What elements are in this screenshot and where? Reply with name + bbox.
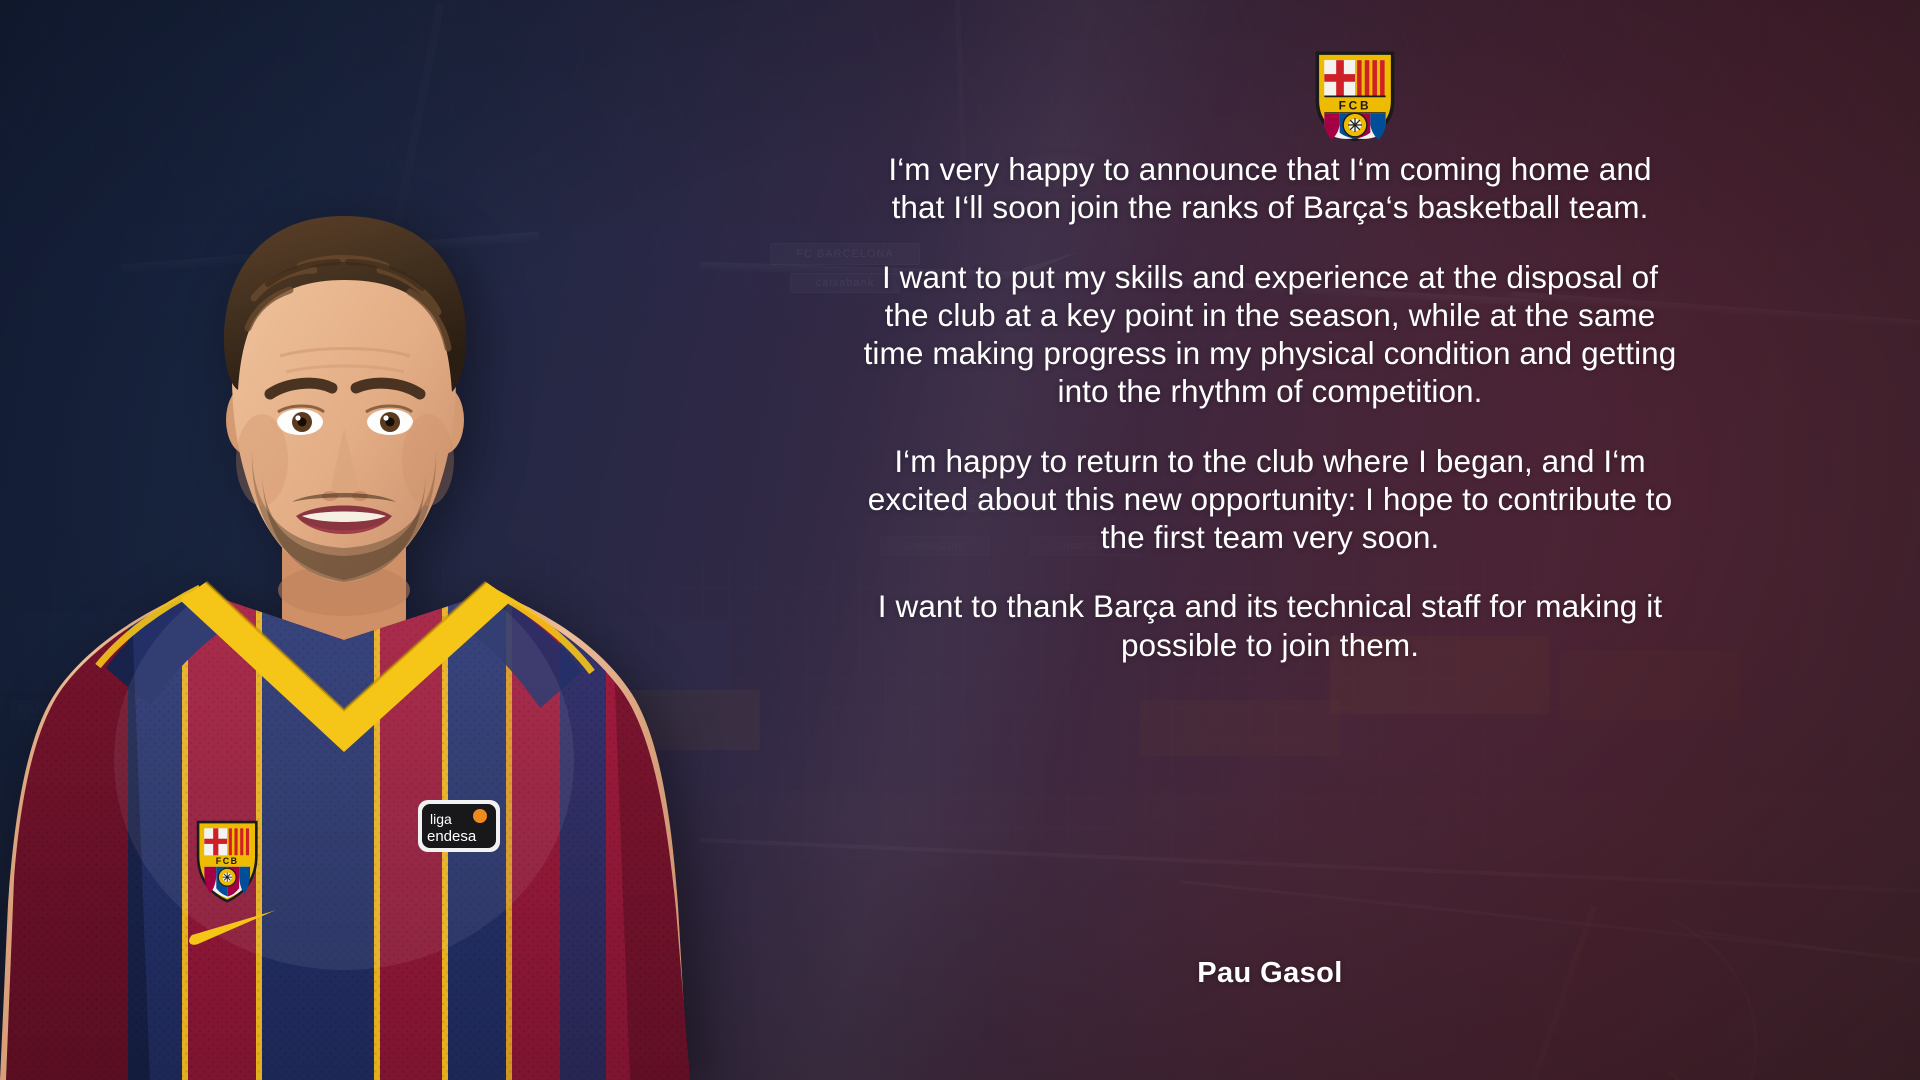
graphic-canvas: FC BARCELONA caixabank Coca-Cola Coca-Co… bbox=[0, 0, 1920, 1080]
svg-text:FCB: FCB bbox=[216, 856, 239, 866]
quote-paragraph: I want to put my skills and experience a… bbox=[860, 258, 1680, 411]
crest-letters: FCB bbox=[1339, 99, 1372, 113]
patch-line2: endesa bbox=[427, 828, 477, 845]
quote-paragraph: I‘m happy to return to the club where I … bbox=[860, 442, 1680, 557]
jersey-liga-endesa-patch: liga endesa bbox=[418, 800, 500, 852]
patch-line1: liga bbox=[430, 811, 452, 827]
quote-paragraph: I‘m very happy to announce that I‘m comi… bbox=[860, 150, 1680, 227]
quote-block: I‘m very happy to announce that I‘m comi… bbox=[860, 150, 1680, 664]
quote-paragraph: I want to thank Barça and its technical … bbox=[860, 587, 1680, 664]
fcb-crest: FCB bbox=[1313, 49, 1397, 141]
player-head bbox=[224, 216, 466, 582]
player-photo-pau-gasol: FCB liga endesa bbox=[0, 120, 740, 1080]
quote-signature: Pau Gasol bbox=[860, 957, 1680, 990]
